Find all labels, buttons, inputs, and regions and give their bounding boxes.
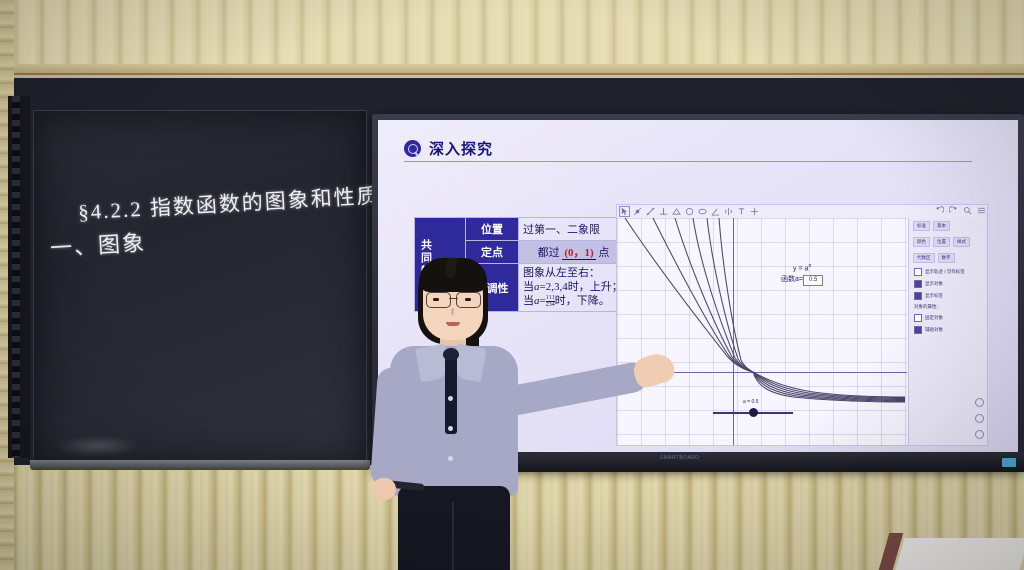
settings-check-4[interactable]: 辅助对象 [909, 324, 988, 336]
settings-section-label: 对象的属性： [909, 302, 988, 312]
slider-knob[interactable] [749, 408, 758, 417]
settings-chip-2[interactable]: 颜色 [913, 237, 930, 247]
magnifier-icon [404, 140, 421, 157]
geogebra-right-icons[interactable] [935, 206, 986, 215]
redo-icon[interactable] [949, 206, 958, 215]
settings-chip-1[interactable]: 基本 [933, 221, 950, 231]
checkbox-checked[interactable] [914, 292, 922, 300]
settings-check-label: 固定对象 [925, 315, 943, 321]
settings-chip-row: 代数区 数字 [909, 250, 988, 266]
settings-check-0[interactable]: 显示轨迹 / 可作标签 [909, 266, 988, 278]
circle-icon[interactable] [685, 207, 694, 216]
smartboard-badge [1002, 458, 1016, 467]
param-input[interactable]: 0.5 [803, 275, 823, 286]
geogebra-toolbar[interactable] [617, 205, 988, 218]
mouth [446, 322, 460, 326]
zoom-in-icon[interactable] [975, 414, 984, 423]
polygon-icon[interactable] [672, 207, 681, 216]
necktie [445, 350, 457, 434]
glasses-bridge [449, 298, 458, 299]
equation-lhs: y = a [793, 265, 808, 272]
param-row: 函数a=0.5 [781, 275, 823, 286]
chalkboard-subtitle-line: 一、图象 [49, 225, 147, 263]
wall-upper-panel [0, 0, 1024, 75]
text-icon[interactable] [737, 207, 746, 216]
reflect-icon[interactable] [724, 207, 733, 216]
settings-chip-6[interactable]: 数字 [938, 253, 955, 263]
zoom-out-icon[interactable] [975, 430, 984, 439]
table-value-position: 过第一、二象限 [519, 218, 629, 241]
settings-check-label: 辅助对象 [925, 327, 943, 333]
settings-check-label: 显示标签 [925, 293, 943, 299]
nose [451, 308, 454, 315]
settings-chip-4[interactable]: 样式 [953, 237, 970, 247]
geogebra-settings-panel[interactable]: 标准 基本 颜色 位置 样式 代数区 数字 显示轨迹 / 可作标签 [908, 218, 988, 445]
menu-icon[interactable] [977, 206, 986, 215]
equation-text: y = ax [781, 262, 823, 275]
slider-label: a = 0.5 [743, 399, 758, 405]
eye-right [465, 298, 471, 301]
undo-icon[interactable] [935, 206, 944, 215]
move-icon[interactable] [750, 207, 759, 216]
slide-title-row: 深入探究 [404, 138, 493, 159]
arm-right-extended [498, 360, 649, 418]
hand-right-pointing [631, 350, 678, 390]
classroom-scene: §4.2.2 指数函数的图象和性质 一、图象 SMARTBOARD 深入探究 共… [0, 0, 1024, 570]
board-slide-rail [8, 96, 30, 458]
point-icon[interactable] [633, 207, 642, 216]
search-icon[interactable] [963, 206, 972, 215]
checkbox-unchecked[interactable] [914, 268, 922, 276]
trousers [398, 486, 510, 570]
pointer-icon[interactable] [620, 207, 629, 216]
eye-left [433, 298, 439, 301]
param-label: 函数a= [781, 276, 803, 283]
zoom-home-icon[interactable] [975, 398, 984, 407]
necktie-knot [443, 348, 459, 361]
settings-chip-row: 颜色 位置 样式 [909, 234, 988, 250]
blouse-button [448, 396, 453, 401]
line-icon[interactable] [646, 207, 655, 216]
checkbox-checked[interactable] [914, 280, 922, 288]
table-row: 共同特征 位置 过第一、二象限 [415, 218, 629, 241]
chalkboard [33, 110, 367, 464]
checkbox-unchecked[interactable] [914, 314, 922, 322]
trouser-seam [452, 502, 454, 570]
settings-check-1[interactable]: 显示对象 [909, 278, 988, 290]
zoom-controls[interactable] [975, 398, 984, 439]
chalk-tray [30, 460, 370, 470]
settings-chip-0[interactable]: 标准 [913, 221, 930, 231]
equation-annotation: y = ax 函数a=0.5 [781, 262, 823, 286]
equation-exponent: x [808, 263, 811, 269]
settings-chip-5[interactable]: 代数区 [913, 253, 935, 263]
slide-title: 深入探究 [429, 138, 493, 159]
checkbox-checked[interactable] [914, 326, 922, 334]
teacher-figure [366, 250, 696, 570]
perpendicular-icon[interactable] [659, 207, 668, 216]
table-label-position: 位置 [466, 218, 519, 241]
settings-check-label: 显示轨迹 / 可作标签 [925, 269, 965, 275]
angle-icon[interactable] [711, 207, 720, 216]
settings-check-label: 显示对象 [925, 281, 943, 287]
hand-left [372, 478, 396, 500]
settings-chip-row: 标准 基本 [909, 218, 988, 234]
title-underline [404, 161, 972, 162]
settings-check-3[interactable]: 固定对象 [909, 312, 988, 324]
desk-top [895, 538, 1024, 570]
blouse-button [448, 456, 453, 461]
blouse-button [448, 426, 453, 431]
ellipse-icon[interactable] [698, 207, 707, 216]
settings-chip-3[interactable]: 位置 [933, 237, 950, 247]
settings-check-2[interactable]: 显示标签 [909, 290, 988, 302]
